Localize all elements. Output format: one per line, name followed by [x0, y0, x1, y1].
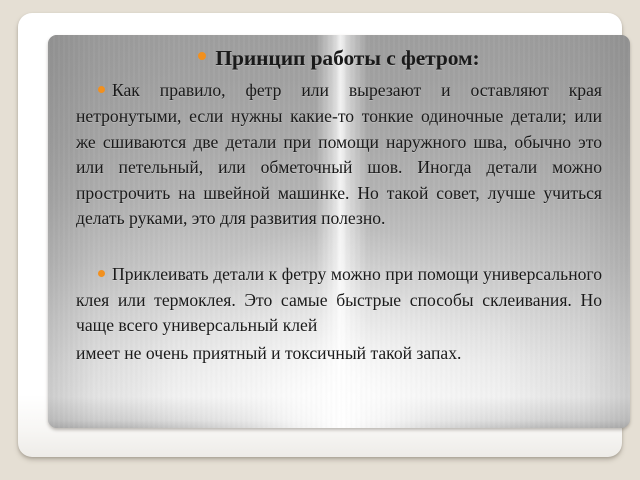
paragraph-felt-gluing: Приклеивать детали к фетру можно при пом… [76, 262, 602, 366]
paragraph-1-text: Как правило, фетр или вырезают и оставля… [76, 80, 602, 228]
slide-frame: Принцип работы с фетром: Как правило, фе… [18, 13, 622, 457]
orange-dot-bullet-icon [98, 86, 105, 93]
orange-dot-bullet-icon [198, 52, 206, 60]
paragraph-2-text: Приклеивать детали к фетру можно при пом… [76, 264, 602, 335]
orange-dot-bullet-icon [98, 270, 105, 277]
slide-content-panel: Принцип работы с фетром: Как правило, фе… [48, 35, 630, 428]
paragraph-felt-cutting-sewing: Как правило, фетр или вырезают и оставля… [76, 78, 602, 232]
slide-title: Принцип работы с фетром: [76, 46, 602, 71]
slide-text-body: Принцип работы с фетром: Как правило, фе… [76, 46, 602, 366]
slide-title-text: Принцип работы с фетром: [215, 46, 479, 70]
paragraph-2-tail-text: имеет не очень приятный и токсичный тако… [76, 341, 602, 367]
